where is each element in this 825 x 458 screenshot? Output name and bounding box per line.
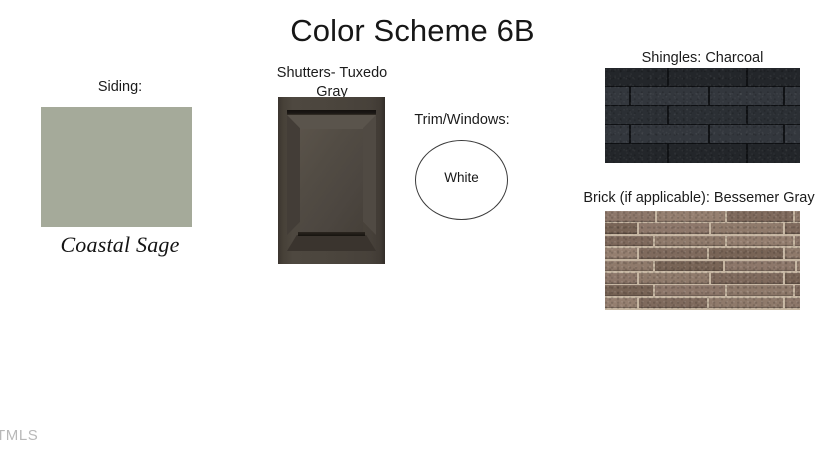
shingles-image (605, 68, 800, 163)
page-title: Color Scheme 6B (0, 14, 825, 48)
brick-label: Brick (if applicable): Bessemer Gray (578, 189, 820, 208)
trim-windows-label: Trim/Windows: (400, 111, 524, 130)
shutter-bevel-left (287, 115, 300, 235)
trim-color-name: White (444, 170, 479, 185)
shingles-label: Shingles: Charcoal (600, 49, 805, 68)
shutter-image (278, 97, 385, 264)
shutter-panel-face (300, 129, 363, 232)
siding-label: Siding: (30, 78, 210, 97)
shutter-bevel-right (363, 115, 376, 235)
shutter-bevel-top (287, 115, 376, 129)
shutter-top-shadow (287, 110, 376, 115)
shutters-label: Shutters- Tuxedo Gray (268, 64, 396, 101)
siding-color-swatch (41, 107, 192, 227)
shutter-panel-area (287, 110, 376, 251)
shutter-bevel-bottom (287, 235, 376, 251)
brick-image (605, 211, 800, 310)
brick-surface-texture (605, 211, 800, 310)
siding-color-name: Coastal Sage (30, 232, 210, 258)
color-scheme-slide: Color Scheme 6B Siding: Coastal Sage Shu… (0, 0, 825, 458)
tmls-watermark: TMLS (0, 427, 38, 444)
shutter-bottom-shadow (298, 232, 365, 236)
trim-color-oval: White (415, 140, 508, 220)
shingle-granule-texture (605, 68, 800, 163)
